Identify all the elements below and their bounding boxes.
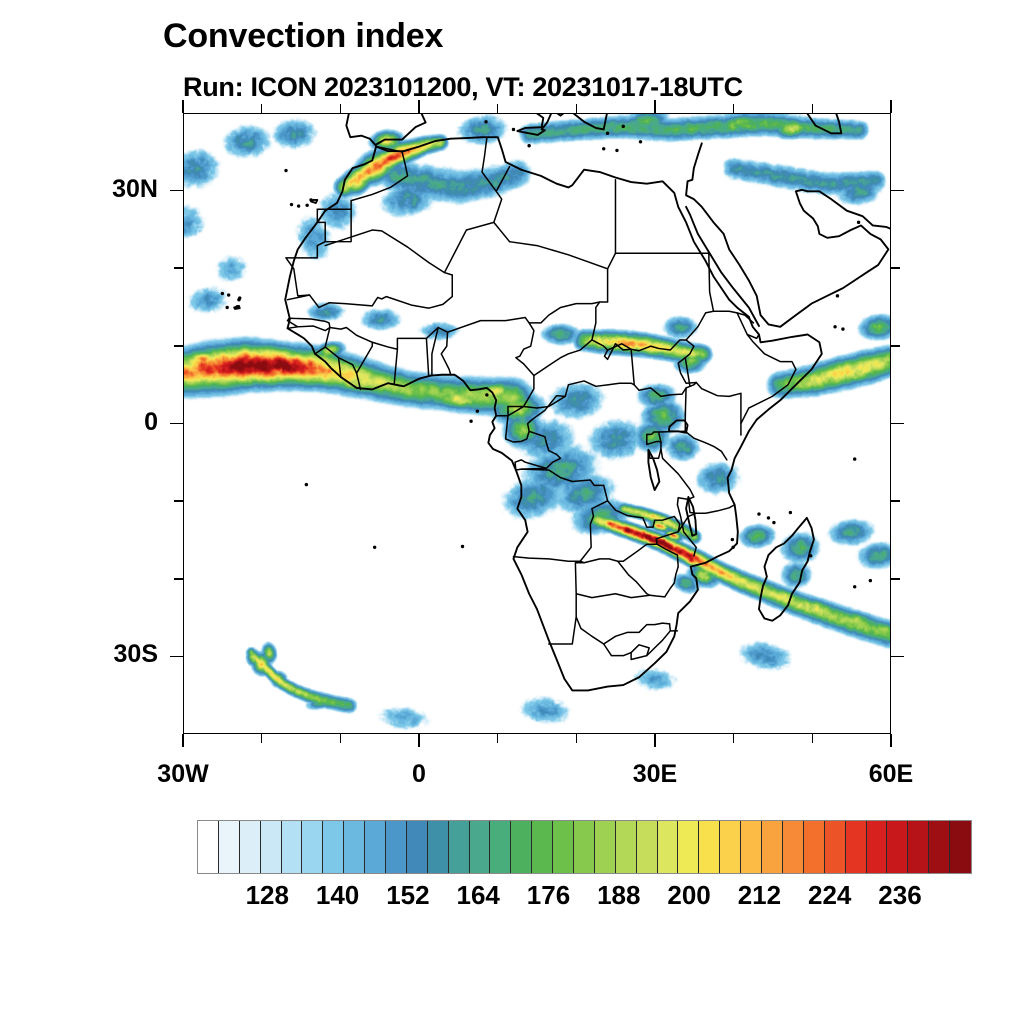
y-axis-label: 0	[33, 408, 158, 437]
colorbar-cell	[929, 821, 950, 873]
x-tick-minor	[576, 734, 578, 743]
colorbar-cell	[302, 821, 323, 873]
colorbar-cell	[616, 821, 637, 873]
colorbar-cell	[825, 821, 846, 873]
y-tick-minor	[891, 267, 900, 269]
colorbar-cell	[678, 821, 699, 873]
x-tick-major	[418, 100, 420, 113]
colorbar-cell	[282, 821, 303, 873]
colorbar-cell	[783, 821, 804, 873]
y-tick-major	[891, 423, 904, 425]
colorbar-cell	[699, 821, 720, 873]
colorbar-cell	[762, 821, 783, 873]
colorbar-cell	[637, 821, 658, 873]
x-tick-minor	[812, 104, 814, 113]
y-tick-minor	[174, 345, 183, 347]
x-tick-major	[654, 100, 656, 113]
y-tick-major	[891, 656, 904, 658]
x-tick-major	[890, 100, 892, 113]
colorbar-cell	[407, 821, 428, 873]
colorbar-cell	[553, 821, 574, 873]
x-tick-minor	[812, 734, 814, 743]
colorbar-cell	[595, 821, 616, 873]
x-tick-minor	[733, 734, 735, 743]
colorbar-cell	[449, 821, 470, 873]
y-tick-minor	[174, 267, 183, 269]
y-tick-major	[891, 190, 904, 192]
colorbar-cell	[887, 821, 908, 873]
x-tick-minor	[497, 104, 499, 113]
x-tick-major	[418, 734, 420, 747]
y-tick-minor	[891, 345, 900, 347]
x-tick-minor	[576, 104, 578, 113]
colorbar-cell	[846, 821, 867, 873]
colorbar	[197, 820, 972, 874]
colorbar-cell	[574, 821, 595, 873]
y-axis-label: 30S	[33, 640, 158, 669]
colorbar-cell	[490, 821, 511, 873]
colorbar-cell	[804, 821, 825, 873]
y-tick-major	[170, 423, 183, 425]
x-tick-minor	[261, 104, 263, 113]
colorbar-cell	[908, 821, 929, 873]
x-tick-major	[654, 734, 656, 747]
colorbar-cell	[365, 821, 386, 873]
convection-index-raster	[184, 114, 890, 733]
y-tick-minor	[174, 578, 183, 580]
colorbar-cell	[386, 821, 407, 873]
colorbar-cell	[344, 821, 365, 873]
map-plot-area	[183, 113, 891, 734]
colorbar-cell	[511, 821, 532, 873]
x-axis-label: 30E	[575, 760, 735, 789]
x-axis-label: 0	[339, 760, 499, 789]
x-axis-label: 60E	[811, 760, 971, 789]
x-tick-minor	[340, 104, 342, 113]
colorbar-cell	[198, 821, 219, 873]
x-tick-major	[182, 734, 184, 747]
x-tick-major	[182, 100, 184, 113]
colorbar-cell	[532, 821, 553, 873]
y-tick-minor	[174, 500, 183, 502]
x-tick-minor	[261, 734, 263, 743]
y-tick-major	[170, 190, 183, 192]
colorbar-cell	[323, 821, 344, 873]
page-subtitle: Run: ICON 2023101200, VT: 20231017-18UTC	[183, 72, 743, 103]
y-tick-major	[170, 656, 183, 658]
colorbar-cell	[867, 821, 888, 873]
colorbar-cell	[240, 821, 261, 873]
colorbar-cell	[741, 821, 762, 873]
colorbar-cell	[470, 821, 491, 873]
x-tick-minor	[340, 734, 342, 743]
convection-index-figure: Convection index Run: ICON 2023101200, V…	[0, 0, 1024, 1024]
colorbar-cell	[950, 821, 971, 873]
y-tick-minor	[891, 578, 900, 580]
x-tick-minor	[497, 734, 499, 743]
x-tick-minor	[733, 104, 735, 113]
colorbar-tick-label: 236	[850, 880, 950, 911]
x-tick-major	[890, 734, 892, 747]
colorbar-cell	[428, 821, 449, 873]
colorbar-cell	[219, 821, 240, 873]
y-axis-label: 30N	[33, 175, 158, 204]
page-title: Convection index	[163, 17, 443, 56]
colorbar-cell	[658, 821, 679, 873]
y-tick-minor	[891, 500, 900, 502]
x-axis-label: 30W	[103, 760, 263, 789]
colorbar-cell	[261, 821, 282, 873]
colorbar-cell	[720, 821, 741, 873]
